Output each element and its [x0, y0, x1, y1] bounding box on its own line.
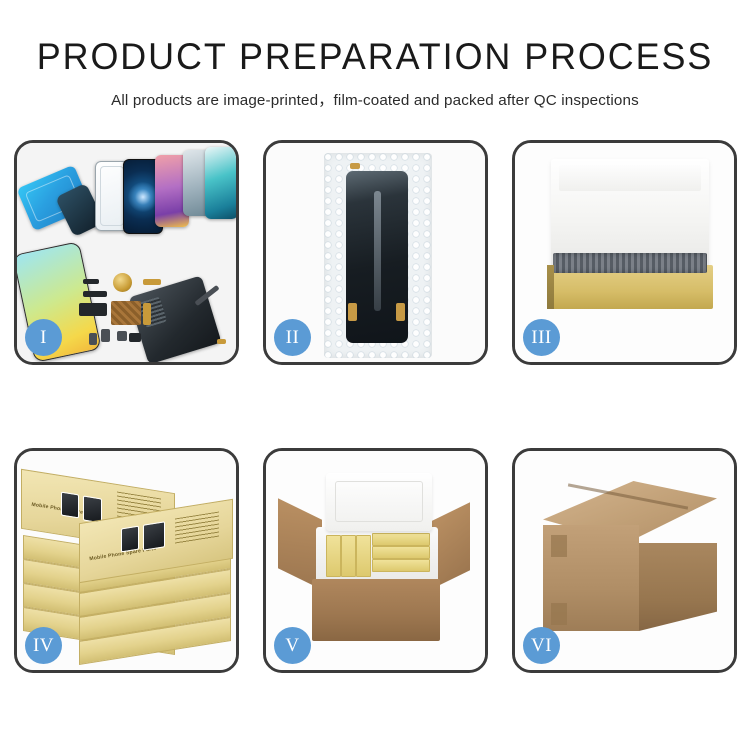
carton-tape-upper	[551, 535, 567, 557]
process-step-panel-6[interactable]: VI	[512, 448, 737, 673]
process-step-panel-1[interactable]: I	[14, 140, 239, 365]
box-screen-image-r2	[143, 521, 165, 550]
inner-yellow-box-3	[356, 535, 371, 577]
page-header: PRODUCT PREPARATION PROCESS All products…	[0, 0, 750, 110]
inner-yellow-box-1	[326, 535, 341, 577]
logic-board-part	[111, 301, 141, 325]
process-step-grid: I II III	[14, 140, 736, 673]
flex-cable-part-2	[79, 303, 107, 316]
step-badge-1: I	[25, 319, 62, 356]
process-step-panel-3[interactable]: III	[512, 140, 737, 365]
screw-part	[217, 339, 226, 344]
small-chip-4	[129, 333, 141, 342]
small-chip-2	[101, 329, 110, 342]
small-chip-1	[83, 279, 99, 284]
step-badge-3: III	[523, 319, 560, 356]
small-chip-3	[117, 331, 127, 341]
teal-phone	[205, 147, 236, 219]
foam-lid-open	[326, 473, 432, 531]
carton-body	[312, 579, 440, 641]
speaker-coin-part	[113, 273, 132, 292]
carton-tape-lower	[551, 603, 567, 625]
step-badge-5: V	[274, 627, 311, 664]
bubble-wrap-sleeve	[324, 153, 432, 358]
process-step-panel-4[interactable]: Mobile Phone Spare Parts Mobile Phone Sp…	[14, 448, 239, 673]
box-screen-image-l1	[61, 492, 79, 519]
inner-yellow-box-5	[372, 546, 430, 559]
page-subtitle: All products are image-printed，film-coat…	[0, 88, 750, 110]
inner-yellow-box-6	[372, 559, 430, 572]
flex-cable-part-1	[83, 291, 107, 297]
inner-yellow-box-2	[341, 535, 356, 577]
small-chip-5	[89, 333, 97, 345]
step-badge-2: II	[274, 319, 311, 356]
kraft-box-tray	[547, 265, 713, 309]
gold-connector-2	[143, 303, 151, 325]
step-badge-6: VI	[523, 627, 560, 664]
inner-yellow-box-4	[372, 533, 430, 546]
foam-base-tray	[316, 527, 438, 585]
gold-tab-bottom-right	[396, 303, 405, 321]
box-screen-image-r1	[121, 526, 139, 553]
process-step-panel-5[interactable]: V	[263, 448, 488, 673]
gold-tab-top	[350, 163, 360, 169]
gold-tab-bottom-left	[348, 303, 357, 321]
process-step-panel-2[interactable]: II	[263, 140, 488, 365]
gold-connector-1	[143, 279, 161, 285]
page-title: PRODUCT PREPARATION PROCESS	[11, 38, 739, 77]
step-badge-4: IV	[25, 627, 62, 664]
